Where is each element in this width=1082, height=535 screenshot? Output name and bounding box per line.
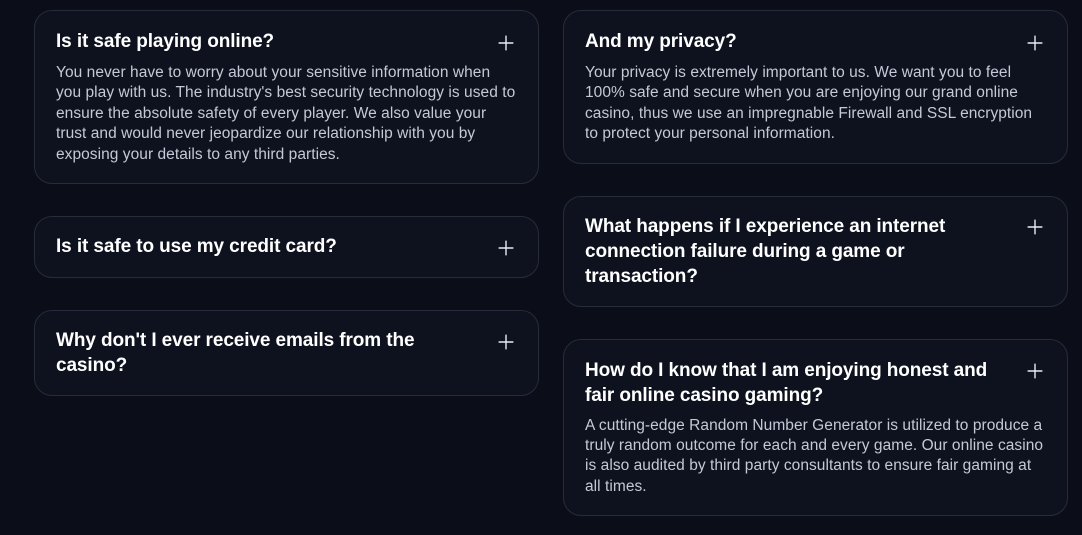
plus-icon[interactable]: [1025, 215, 1045, 240]
plus-icon[interactable]: [496, 329, 516, 354]
plus-icon[interactable]: [1025, 359, 1045, 384]
faq-question: How do I know that I am enjoying honest …: [585, 358, 1005, 408]
faq-question: What happens if I experience an internet…: [585, 214, 1005, 289]
faq-item-safe-playing-online[interactable]: Is it safe playing online? You never hav…: [34, 10, 539, 184]
faq-item-header[interactable]: How do I know that I am enjoying honest …: [585, 358, 1045, 408]
faq-item-header[interactable]: Is it safe playing online?: [56, 29, 516, 55]
plus-icon[interactable]: [496, 235, 516, 260]
faq-item-header[interactable]: What happens if I experience an internet…: [585, 214, 1045, 289]
faq-question: Is it safe to use my credit card?: [56, 234, 337, 259]
plus-icon[interactable]: [496, 30, 516, 55]
faq-question: Why don't I ever receive emails from the…: [56, 328, 476, 378]
faq-item-and-my-privacy[interactable]: And my privacy? Your privacy is extremel…: [563, 10, 1068, 164]
faq-item-never-receive-emails[interactable]: Why don't I ever receive emails from the…: [34, 310, 539, 396]
faq-question: And my privacy?: [585, 29, 737, 54]
faq-section: Is it safe playing online? You never hav…: [0, 0, 1082, 535]
plus-icon[interactable]: [1025, 30, 1045, 55]
faq-item-honest-and-fair-gaming[interactable]: How do I know that I am enjoying honest …: [563, 339, 1068, 517]
faq-columns: Is it safe playing online? You never hav…: [0, 0, 1082, 535]
faq-column-left: Is it safe playing online? You never hav…: [34, 10, 539, 396]
faq-item-header[interactable]: And my privacy?: [585, 29, 1045, 55]
faq-item-safe-credit-card[interactable]: Is it safe to use my credit card?: [34, 216, 539, 278]
faq-answer: You never have to worry about your sensi…: [56, 63, 516, 165]
faq-item-internet-connection-failure[interactable]: What happens if I experience an internet…: [563, 196, 1068, 307]
faq-item-header[interactable]: Why don't I ever receive emails from the…: [56, 328, 516, 378]
faq-column-right: And my privacy? Your privacy is extremel…: [563, 10, 1068, 516]
faq-answer: Your privacy is extremely important to u…: [585, 63, 1045, 145]
faq-question: Is it safe playing online?: [56, 29, 274, 54]
faq-answer: A cutting-edge Random Number Generator i…: [585, 416, 1045, 498]
faq-item-header[interactable]: Is it safe to use my credit card?: [56, 234, 516, 260]
